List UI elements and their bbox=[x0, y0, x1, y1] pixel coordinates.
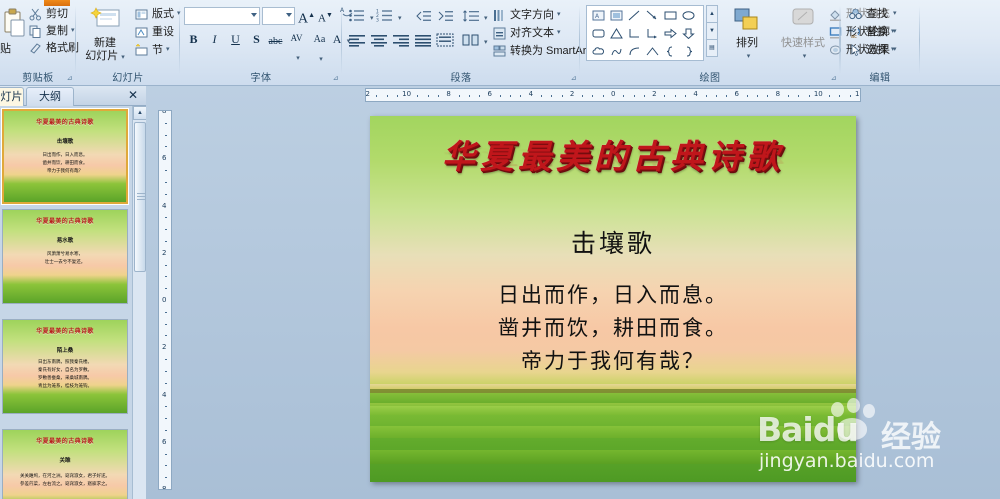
drawing-group-label: 绘图 bbox=[580, 69, 840, 84]
thumb-subtitle: 关雎 bbox=[3, 456, 127, 464]
close-label: ✕ bbox=[128, 88, 138, 102]
ruler-tick-label: 6 bbox=[162, 154, 166, 162]
underline-label: U bbox=[231, 32, 240, 46]
ruler-minor-tick bbox=[165, 241, 167, 242]
align-text-label: 对齐文本 bbox=[510, 26, 554, 40]
chevron-down-icon[interactable]: ▾ bbox=[723, 50, 774, 63]
reset-icon bbox=[134, 25, 149, 40]
ruler-minor-tick bbox=[165, 135, 167, 136]
gallery-scroll-up-button[interactable]: ▲ bbox=[706, 5, 718, 23]
ruler-minor-tick bbox=[592, 95, 593, 97]
align-left-button[interactable] bbox=[348, 33, 366, 51]
new-slide-button[interactable]: 新建 幻灯片▾ bbox=[78, 4, 132, 64]
find-button[interactable]: 查找 bbox=[848, 6, 888, 22]
tab-slides-label: 幻灯片 bbox=[0, 91, 23, 103]
strikethrough-button[interactable]: abc bbox=[266, 32, 285, 51]
binoculars-icon bbox=[848, 7, 863, 22]
ruler-minor-tick bbox=[809, 95, 810, 97]
field-band bbox=[370, 450, 856, 464]
rectangle-shape-icon[interactable] bbox=[661, 7, 679, 24]
horizontal-ruler[interactable]: 12108642024681012 bbox=[365, 88, 861, 102]
ruler-tick-label: 6 bbox=[735, 90, 739, 98]
ruler-minor-tick bbox=[500, 95, 501, 97]
list-item[interactable]: 华夏最美的古典诗歌 关雎 关关雎鸠，在河之洲。窈窕淑女，君子好逑。 参差荇菜，左… bbox=[2, 429, 128, 499]
thumb-line: 壮士一去兮不复还。 bbox=[3, 258, 127, 265]
thumb-line: 秦氏有好女，自名为罗敷。 bbox=[3, 366, 127, 373]
ruler-minor-tick bbox=[165, 324, 167, 325]
chevron-down-icon[interactable] bbox=[251, 13, 257, 17]
copy-icon bbox=[28, 24, 43, 39]
select-button[interactable]: 选择 ▾ bbox=[848, 42, 895, 58]
paintbrush-icon bbox=[28, 41, 43, 56]
ruler-minor-tick bbox=[551, 95, 552, 97]
quick-styles-icon bbox=[787, 6, 819, 36]
thumb-line: 日出而作，日入而息。 bbox=[4, 151, 126, 158]
tab-outline-label: 大纲 bbox=[39, 91, 61, 103]
ruler-tick-label: 8 bbox=[446, 90, 450, 98]
chevron-down-icon[interactable]: ▾ bbox=[557, 26, 561, 40]
chevron-down-icon[interactable]: ▾ bbox=[484, 14, 488, 22]
list-item[interactable]: 华夏最美的古典诗歌 易水歌 风萧萧兮易水寒， 壮士一去兮不复还。 bbox=[2, 209, 128, 304]
ruler-minor-tick bbox=[165, 359, 167, 360]
poem-body[interactable]: 日出而作，日入而息。 凿井而饮，耕田而食。 帝力于我何有哉？ bbox=[370, 279, 856, 378]
bold-button[interactable]: B bbox=[184, 30, 203, 49]
ruler-minor-tick bbox=[685, 95, 686, 97]
character-spacing-button[interactable]: AV ▾ bbox=[287, 29, 306, 48]
shapes-gallery-scroll[interactable]: ▲ ▼ ▤ bbox=[706, 5, 718, 61]
ruler-tick-label: 12 bbox=[365, 90, 370, 98]
slides-group-label: 幻灯片 bbox=[76, 69, 180, 84]
field-band bbox=[370, 393, 856, 403]
layout-icon bbox=[134, 7, 149, 22]
ruler-minor-tick bbox=[165, 194, 167, 195]
copy-label: 复制 bbox=[46, 24, 68, 38]
ruler-minor-tick bbox=[767, 95, 768, 97]
ruler-minor-tick bbox=[582, 95, 583, 97]
select-label: 选择 bbox=[866, 43, 888, 57]
line-spacing-button[interactable] bbox=[462, 8, 480, 26]
ruler-minor-tick bbox=[165, 383, 167, 384]
list-item[interactable]: 华夏最美的古典诗歌 陌上桑 日出东南隅，照我秦氏楼。 秦氏有好女，自名为罗敷。 … bbox=[2, 319, 128, 414]
tab-outline[interactable]: 大纲 bbox=[26, 87, 74, 106]
scroll-up-label: ▲ bbox=[137, 110, 143, 116]
convert-to-smartart-label: 转换为 SmartArt bbox=[510, 44, 589, 58]
ruler-minor-tick bbox=[397, 95, 398, 97]
wordart-title[interactable]: 华夏最美的古典诗歌 bbox=[370, 130, 856, 178]
ruler-tick-label: 4 bbox=[162, 391, 166, 399]
chevron-down-icon[interactable]: ▾ bbox=[71, 24, 75, 38]
align-text-icon bbox=[492, 26, 507, 41]
thumb-line: 帝力于我何有哉？ bbox=[4, 167, 126, 174]
grow-font-label: A bbox=[298, 12, 308, 27]
chevron-down-icon[interactable]: ▾ bbox=[891, 25, 895, 39]
new-slide-icon bbox=[89, 6, 121, 36]
decrease-indent-button[interactable] bbox=[414, 8, 432, 26]
chevron-down-icon[interactable]: ▾ bbox=[319, 55, 323, 63]
ruler-minor-tick bbox=[165, 477, 167, 478]
thumb-title: 华夏最美的古典诗歌 bbox=[4, 117, 126, 126]
italic-button[interactable]: I bbox=[205, 30, 224, 49]
ruler-minor-tick bbox=[469, 95, 470, 97]
columns-button[interactable] bbox=[462, 33, 480, 51]
thumb-line: 风萧萧兮易水寒， bbox=[3, 250, 127, 257]
svg-text:ac: ac bbox=[851, 34, 857, 39]
cloud-shape-icon[interactable] bbox=[589, 43, 607, 60]
quick-styles-button[interactable]: 快速样式 ▾ bbox=[776, 4, 830, 63]
thumb-title: 华夏最美的古典诗歌 bbox=[3, 216, 127, 225]
align-center-button[interactable] bbox=[370, 33, 388, 51]
textbox2-shape-icon[interactable] bbox=[607, 7, 625, 24]
right-arrow-shape-icon[interactable] bbox=[661, 25, 679, 42]
slide-thumbnail-1[interactable]: 华夏最美的古典诗歌 击壤歌 日出而作，日入而息。 凿井而饮，耕田而食。 帝力于我… bbox=[2, 109, 128, 204]
down-arrow-shape-icon[interactable] bbox=[679, 25, 697, 42]
paragraph-group-label: 段落 bbox=[342, 69, 580, 84]
thumb-line: 参差荇菜，左右流之。窈窕淑女，寤寐求之。 bbox=[3, 480, 127, 487]
group-separator bbox=[840, 6, 841, 74]
paste-label[interactable]: 贴 bbox=[0, 40, 11, 56]
font-name-combo[interactable] bbox=[184, 7, 260, 25]
ruler-minor-tick bbox=[829, 95, 830, 97]
ruler-tick-label: 8 bbox=[162, 485, 166, 490]
ribbon-group-editing: 查找 ab ac 替换 ▾ 选择 ▾ 编辑 bbox=[840, 0, 920, 86]
freeform-shape-icon[interactable] bbox=[607, 43, 625, 60]
ruler-tick-label: 8 bbox=[776, 90, 780, 98]
textbox-shape-icon[interactable]: A bbox=[589, 7, 607, 24]
ruler-tick-label: 0 bbox=[611, 90, 615, 98]
format-painter-button[interactable]: 格式刷 bbox=[28, 40, 79, 56]
new-slide-label-line1: 新建 bbox=[94, 37, 116, 49]
ruler-minor-tick bbox=[165, 454, 167, 455]
replace-button[interactable]: ab ac 替换 ▾ bbox=[848, 24, 895, 40]
paragraph-dialog-launcher[interactable]: ⊿ bbox=[569, 74, 578, 83]
section-button[interactable]: 节 ▾ bbox=[134, 42, 170, 58]
ruler-minor-tick bbox=[459, 95, 460, 97]
replace-icon: ab ac bbox=[848, 25, 863, 40]
ruler-minor-tick bbox=[541, 95, 542, 97]
ruler-minor-tick bbox=[165, 465, 167, 466]
ruler-minor-tick bbox=[165, 406, 167, 407]
vertical-ruler[interactable]: 864202468 bbox=[158, 110, 172, 490]
ruler-tick-label: 2 bbox=[162, 249, 166, 257]
font-group-label: 字体 bbox=[180, 69, 342, 84]
ruler-minor-tick bbox=[165, 276, 167, 277]
ruler-minor-tick bbox=[562, 95, 563, 97]
layout-label: 版式 bbox=[152, 7, 174, 21]
ruler-minor-tick bbox=[634, 95, 635, 97]
shadow-label: S bbox=[253, 32, 260, 46]
thumbnail-scrollbar[interactable]: ▲ bbox=[132, 106, 146, 499]
thumb-line: 凿井而饮，耕田而食。 bbox=[4, 159, 126, 166]
char-spacing-label: AV bbox=[291, 33, 303, 43]
bullets-button[interactable] bbox=[348, 8, 366, 26]
ruler-minor-tick bbox=[438, 95, 439, 97]
ruler-minor-tick bbox=[623, 95, 624, 97]
distribute-button[interactable] bbox=[436, 33, 454, 51]
ruler-minor-tick bbox=[165, 288, 167, 289]
ruler-tick-label: 8 bbox=[162, 110, 166, 115]
slide-thumbnail-4[interactable]: 华夏最美的古典诗歌 关雎 关关雎鸠，在河之洲。窈窕淑女，君子好逑。 参差荇菜，左… bbox=[2, 429, 128, 499]
thumb-title: 华夏最美的古典诗歌 bbox=[3, 436, 127, 445]
cut-button[interactable]: 剪切 bbox=[28, 6, 68, 22]
group-separator bbox=[919, 6, 920, 74]
slide-thumbnail-list[interactable]: 华夏最美的古典诗歌 击壤歌 日出而作，日入而息。 凿井而饮，耕田而食。 帝力于我… bbox=[0, 106, 132, 499]
poem-line: 帝力于我何有哉？ bbox=[370, 345, 856, 378]
reset-label: 重设 bbox=[152, 25, 174, 39]
paste-icon[interactable] bbox=[2, 8, 26, 38]
ruler-minor-tick bbox=[165, 217, 167, 218]
increase-indent-button[interactable] bbox=[436, 8, 454, 26]
ruler-tick-label: 2 bbox=[652, 90, 656, 98]
quick-styles-label: 快速样式 bbox=[781, 37, 825, 49]
list-item[interactable]: 华夏最美的古典诗歌 击壤歌 日出而作，日入而息。 凿井而饮，耕田而食。 帝力于我… bbox=[2, 109, 128, 204]
tab-slides[interactable]: 幻灯片 bbox=[0, 87, 24, 106]
chevron-down-icon[interactable]: ▾ bbox=[484, 38, 488, 46]
field-band bbox=[370, 426, 856, 438]
ruler-tick-label: 12 bbox=[855, 90, 861, 98]
ruler-minor-tick bbox=[165, 170, 167, 171]
ruler-minor-tick bbox=[165, 229, 167, 230]
thumb-subtitle: 陌上桑 bbox=[3, 346, 127, 354]
underline-button[interactable]: U bbox=[226, 30, 245, 49]
svg-text:3: 3 bbox=[376, 18, 379, 24]
thumb-line: 罗敷善蚕桑，采桑城南隅。 bbox=[3, 374, 127, 381]
section-icon bbox=[134, 43, 149, 58]
italic-label: I bbox=[213, 32, 217, 46]
grow-font-button[interactable]: A▲ bbox=[297, 6, 316, 25]
editing-group-label: 编辑 bbox=[840, 69, 920, 84]
scrollbar-grip-icon bbox=[137, 193, 145, 200]
thumb-line: 关关雎鸠，在河之洲。窈窕淑女，君子好逑。 bbox=[3, 472, 127, 479]
arrange-icon bbox=[731, 6, 763, 36]
ruler-minor-tick bbox=[664, 95, 665, 97]
chevron-down-icon[interactable]: ▾ bbox=[398, 14, 402, 22]
chevron-down-icon[interactable]: ▾ bbox=[557, 8, 561, 22]
line-shape-icon[interactable] bbox=[625, 7, 643, 24]
copy-button[interactable]: 复制 ▾ bbox=[28, 23, 75, 39]
ruler-tick-label: 10 bbox=[814, 90, 823, 98]
slides-outline-panel: 幻灯片 大纲 ✕ 华夏最美的古典诗歌 击壤歌 日出而作，日入而息。 凿井而饮，耕… bbox=[0, 86, 146, 499]
ruler-minor-tick bbox=[165, 430, 167, 431]
arc-shape-icon[interactable] bbox=[643, 43, 661, 60]
ruler-minor-tick bbox=[165, 182, 167, 183]
font-size-combo[interactable] bbox=[262, 7, 295, 25]
clipboard-dialog-launcher[interactable]: ⊿ bbox=[65, 74, 74, 83]
change-case-button[interactable]: Aa ▾ bbox=[310, 30, 329, 49]
bold-label: B bbox=[189, 32, 197, 46]
ruler-minor-tick bbox=[165, 265, 167, 266]
close-icon[interactable]: ✕ bbox=[126, 88, 140, 102]
ribbon-group-paragraph: ▾ 1 2 3 ▾ ▾ bbox=[342, 0, 580, 86]
ruler-minor-tick bbox=[603, 95, 604, 97]
ribbon-group-clipboard: 贴 剪切 复制 ▾ bbox=[0, 0, 76, 86]
strikethrough-label: abc bbox=[269, 36, 283, 47]
arrange-button[interactable]: 排列 ▾ bbox=[720, 4, 774, 63]
rounded-rect-shape-icon[interactable] bbox=[589, 25, 607, 42]
ruler-minor-tick bbox=[675, 95, 676, 97]
ruler-minor-tick bbox=[165, 418, 167, 419]
gallery-scroll-down-button[interactable]: ▼ bbox=[706, 22, 718, 40]
arrow-shape-icon[interactable] bbox=[643, 7, 661, 24]
cut-label: 剪切 bbox=[46, 7, 68, 21]
ruler-minor-tick bbox=[165, 371, 167, 372]
ruler-minor-tick bbox=[747, 95, 748, 97]
chevron-down-icon[interactable]: ▾ bbox=[370, 14, 374, 22]
shrink-font-label: A bbox=[318, 13, 326, 25]
ruler-minor-tick bbox=[479, 95, 480, 97]
section-label: 节 bbox=[152, 43, 163, 57]
text-direction-icon bbox=[492, 8, 507, 23]
find-label: 查找 bbox=[866, 7, 888, 21]
ruler-minor-tick bbox=[387, 95, 388, 97]
chevron-down-icon[interactable]: ▾ bbox=[121, 54, 125, 61]
replace-label: 替换 bbox=[866, 25, 888, 39]
slide-edit-area: 12108642024681012 864202468 华夏最美的古典诗歌 华夏… bbox=[146, 86, 1000, 499]
smartart-icon bbox=[492, 44, 507, 59]
scissors-icon bbox=[28, 7, 43, 22]
thumb-line: 青丝为笼系，桂枝为笼钩。 bbox=[3, 382, 127, 389]
ribbon: 贴 剪切 复制 ▾ bbox=[0, 0, 1000, 86]
ellipse-shape-icon[interactable] bbox=[679, 7, 697, 24]
layout-button[interactable]: 版式 ▾ bbox=[134, 6, 181, 22]
ruler-minor-tick bbox=[165, 123, 167, 124]
thumb-title: 华夏最美的古典诗歌 bbox=[3, 326, 127, 335]
slide-thumbnail-3[interactable]: 华夏最美的古典诗歌 陌上桑 日出东南隅，照我秦氏楼。 秦氏有好女，自名为罗敷。 … bbox=[2, 319, 128, 414]
chevron-down-icon[interactable]: ▾ bbox=[779, 50, 830, 63]
poem-title[interactable]: 击壤歌 bbox=[370, 224, 856, 260]
chevron-down-icon[interactable]: ▾ bbox=[891, 43, 895, 57]
ruler-minor-tick bbox=[165, 146, 167, 147]
ruler-minor-tick bbox=[716, 95, 717, 97]
field-band bbox=[370, 406, 856, 415]
chevron-down-icon[interactable]: ▾ bbox=[296, 54, 300, 62]
ruler-minor-tick bbox=[165, 312, 167, 313]
align-text-button[interactable]: 对齐文本 ▾ bbox=[492, 25, 561, 41]
text-shadow-button[interactable]: S bbox=[247, 30, 266, 49]
reset-button[interactable]: 重设 bbox=[134, 24, 174, 40]
ruler-minor-tick bbox=[839, 95, 840, 97]
cursor-icon bbox=[848, 43, 863, 58]
ruler-tick-label: 10 bbox=[402, 90, 411, 98]
ruler-minor-tick bbox=[644, 95, 645, 97]
curve-shape-icon[interactable] bbox=[625, 43, 643, 60]
align-right-button[interactable] bbox=[392, 33, 410, 51]
gallery-more-button[interactable]: ▤ bbox=[706, 39, 718, 57]
chevron-down-icon[interactable]: ▾ bbox=[166, 43, 170, 57]
ribbon-group-slides: 新建 幻灯片▾ 版式 ▾ 重设 bbox=[76, 0, 180, 86]
right-brace-shape-icon[interactable] bbox=[679, 43, 697, 60]
ruler-minor-tick bbox=[798, 95, 799, 97]
ruler-tick-label: 6 bbox=[162, 438, 166, 446]
ribbon-group-drawing: A bbox=[580, 0, 840, 86]
ruler-minor-tick bbox=[510, 95, 511, 97]
panel-tabbar: 幻灯片 大纲 ✕ bbox=[0, 86, 146, 106]
thumb-subtitle: 击壤歌 bbox=[4, 137, 126, 145]
ribbon-group-font: A▲ A▼ A B I U S abc AV ▾ Aa ▾ A ▾ 字体 ⊿ bbox=[180, 0, 342, 86]
ruler-tick-label: 4 bbox=[529, 90, 533, 98]
thumb-subtitle: 易水歌 bbox=[3, 236, 127, 244]
numbering-button[interactable]: 1 2 3 bbox=[376, 8, 394, 26]
ruler-tick-label: 2 bbox=[570, 90, 574, 98]
ruler-minor-tick bbox=[706, 95, 707, 97]
thumb-line: 日出东南隅，照我秦氏楼。 bbox=[3, 358, 127, 365]
justify-button[interactable] bbox=[414, 33, 432, 51]
drawing-dialog-launcher[interactable]: ⊿ bbox=[829, 74, 838, 83]
ruler-tick-label: 6 bbox=[488, 90, 492, 98]
poem-line: 日出而作，日入而息。 bbox=[370, 279, 856, 312]
left-brace-shape-icon[interactable] bbox=[661, 43, 679, 60]
scroll-up-button[interactable]: ▲ bbox=[133, 106, 147, 120]
ruler-minor-tick bbox=[165, 335, 167, 336]
shrink-font-button[interactable]: A▼ bbox=[316, 6, 335, 25]
ruler-minor-tick bbox=[376, 95, 377, 97]
font-dialog-launcher[interactable]: ⊿ bbox=[331, 74, 340, 83]
ruler-minor-tick bbox=[428, 95, 429, 97]
slide-canvas[interactable]: 华夏最美的古典诗歌 华夏最美的古典诗歌 击壤歌 日出而作，日入而息。 凿井而饮，… bbox=[370, 116, 856, 482]
new-slide-label-line2: 幻灯片 bbox=[85, 50, 118, 62]
arrange-label: 排列 bbox=[736, 37, 758, 49]
change-case-label: Aa bbox=[314, 34, 326, 45]
ruler-minor-tick bbox=[757, 95, 758, 97]
font-color-label: A bbox=[333, 32, 341, 46]
triangle-shape-icon[interactable] bbox=[607, 25, 625, 42]
chevron-down-icon[interactable] bbox=[286, 13, 292, 17]
ruler-minor-tick bbox=[850, 95, 851, 97]
elbow-arrow-icon[interactable] bbox=[643, 25, 661, 42]
ruler-tick-label: 0 bbox=[162, 296, 166, 304]
elbow-connector-icon[interactable] bbox=[625, 25, 643, 42]
text-direction-button[interactable]: 文字方向 ▾ bbox=[492, 7, 561, 23]
ruler-minor-tick bbox=[520, 95, 521, 97]
shapes-gallery[interactable]: A bbox=[586, 5, 704, 61]
poem-line: 凿井而饮，耕田而食。 bbox=[370, 312, 856, 345]
ruler-tick-label: 2 bbox=[162, 343, 166, 351]
scrollbar-thumb[interactable] bbox=[134, 122, 146, 272]
ruler-tick-label: 4 bbox=[162, 202, 166, 210]
ruler-minor-tick bbox=[788, 95, 789, 97]
ruler-minor-tick bbox=[417, 95, 418, 97]
text-direction-label: 文字方向 bbox=[510, 8, 554, 22]
ruler-tick-label: 4 bbox=[693, 90, 697, 98]
ruler-minor-tick bbox=[726, 95, 727, 97]
slide-thumbnail-2[interactable]: 华夏最美的古典诗歌 易水歌 风萧萧兮易水寒， 壮士一去兮不复还。 bbox=[2, 209, 128, 304]
